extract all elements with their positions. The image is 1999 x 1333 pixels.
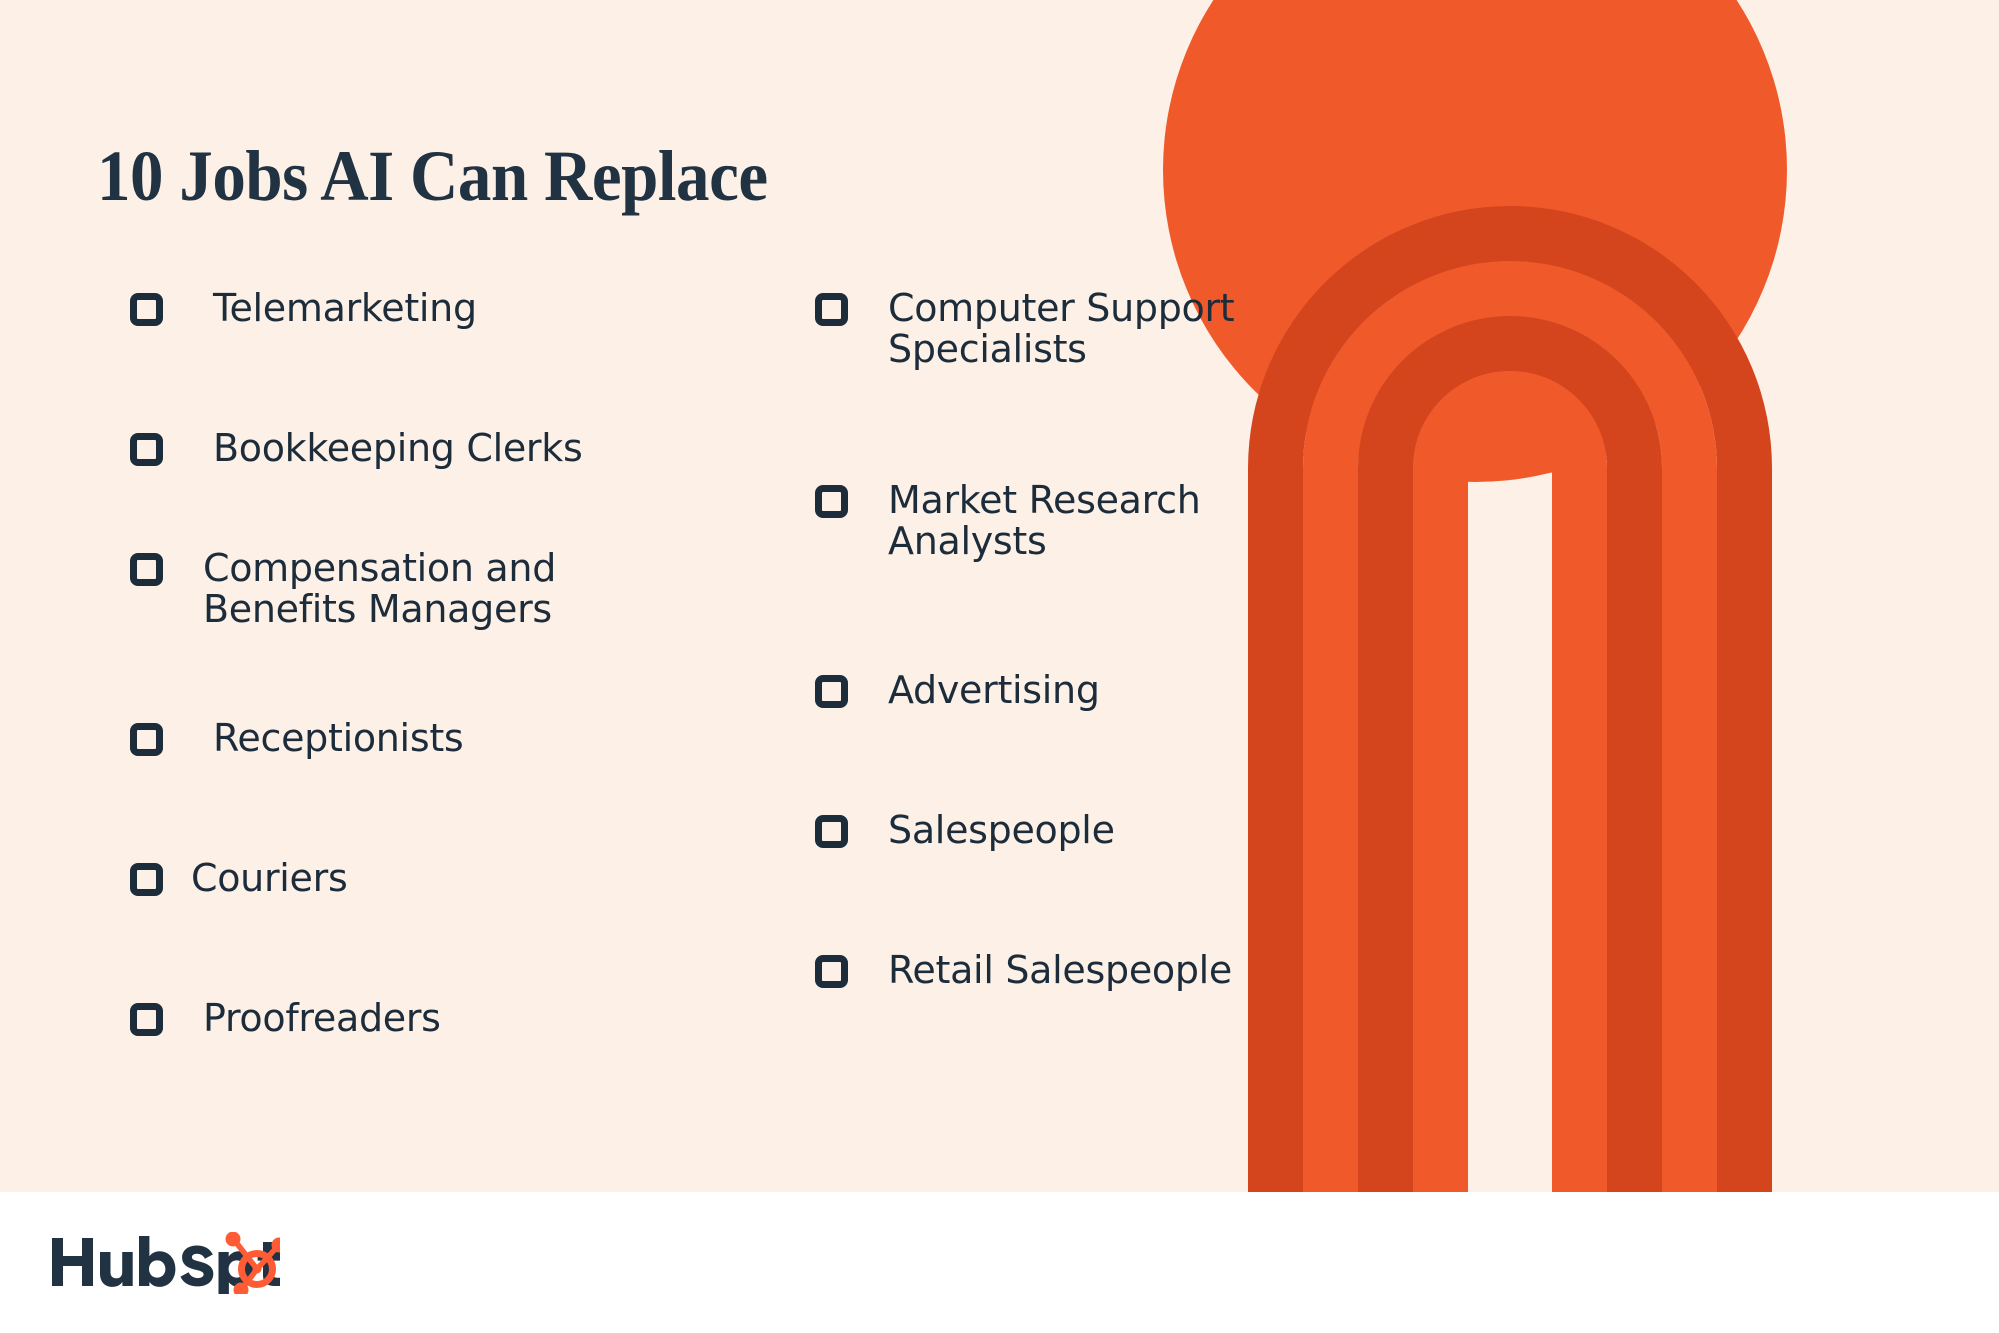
arc-light-1 <box>1303 261 1717 1192</box>
orange-circle <box>1163 0 1787 482</box>
list-item-label: Receptionists <box>213 718 463 759</box>
checkbox-icon[interactable] <box>815 293 848 326</box>
list-item[interactable]: Retail Salespeople <box>815 950 1232 991</box>
checkbox-icon[interactable] <box>130 1003 163 1036</box>
checkbox-icon[interactable] <box>130 433 163 466</box>
list-item[interactable]: Computer Support Specialists <box>815 288 1234 371</box>
infographic-canvas: 10 Jobs AI Can Replace Telemarketing Boo… <box>0 0 1999 1333</box>
list-item[interactable]: Compensation and Benefits Managers <box>130 548 556 631</box>
list-item[interactable]: Salespeople <box>815 810 1115 851</box>
list-item[interactable]: Couriers <box>130 858 347 899</box>
list-item[interactable]: Receptionists <box>130 718 463 759</box>
arc-light-2 <box>1413 371 1607 1192</box>
infographic-body: 10 Jobs AI Can Replace Telemarketing Boo… <box>0 0 1999 1192</box>
checkbox-icon[interactable] <box>815 815 848 848</box>
list-item[interactable]: Advertising <box>815 670 1100 711</box>
hubspot-logo[interactable] <box>50 1232 280 1294</box>
list-item-label: Retail Salespeople <box>888 950 1232 991</box>
arc-outer-dark <box>1248 206 1772 1192</box>
checkbox-icon[interactable] <box>130 863 163 896</box>
list-item-label: Computer Support Specialists <box>888 288 1234 371</box>
checkbox-icon[interactable] <box>130 293 163 326</box>
list-item[interactable]: Telemarketing <box>130 288 477 329</box>
list-item[interactable]: Proofreaders <box>130 998 441 1039</box>
list-item-label: Market Research Analysts <box>888 480 1201 563</box>
list-item-label: Couriers <box>191 858 347 899</box>
page-title: 10 Jobs AI Can Replace <box>97 140 768 212</box>
checkbox-icon[interactable] <box>130 553 163 586</box>
arc-dark-2 <box>1358 316 1662 1192</box>
list-item-label: Compensation and Benefits Managers <box>203 548 556 631</box>
footer-bar <box>0 1192 1999 1333</box>
checkbox-icon[interactable] <box>815 675 848 708</box>
list-item-label: Bookkeeping Clerks <box>213 428 582 469</box>
list-item-label: Proofreaders <box>203 998 441 1039</box>
list-item[interactable]: Bookkeeping Clerks <box>130 428 582 469</box>
list-item-label: Telemarketing <box>213 288 477 329</box>
list-item-label: Advertising <box>888 670 1100 711</box>
checkbox-icon[interactable] <box>130 723 163 756</box>
decorative-graphic <box>1100 0 1999 1192</box>
list-item[interactable]: Market Research Analysts <box>815 480 1201 563</box>
checkbox-icon[interactable] <box>815 485 848 518</box>
checkbox-icon[interactable] <box>815 955 848 988</box>
list-item-label: Salespeople <box>888 810 1115 851</box>
